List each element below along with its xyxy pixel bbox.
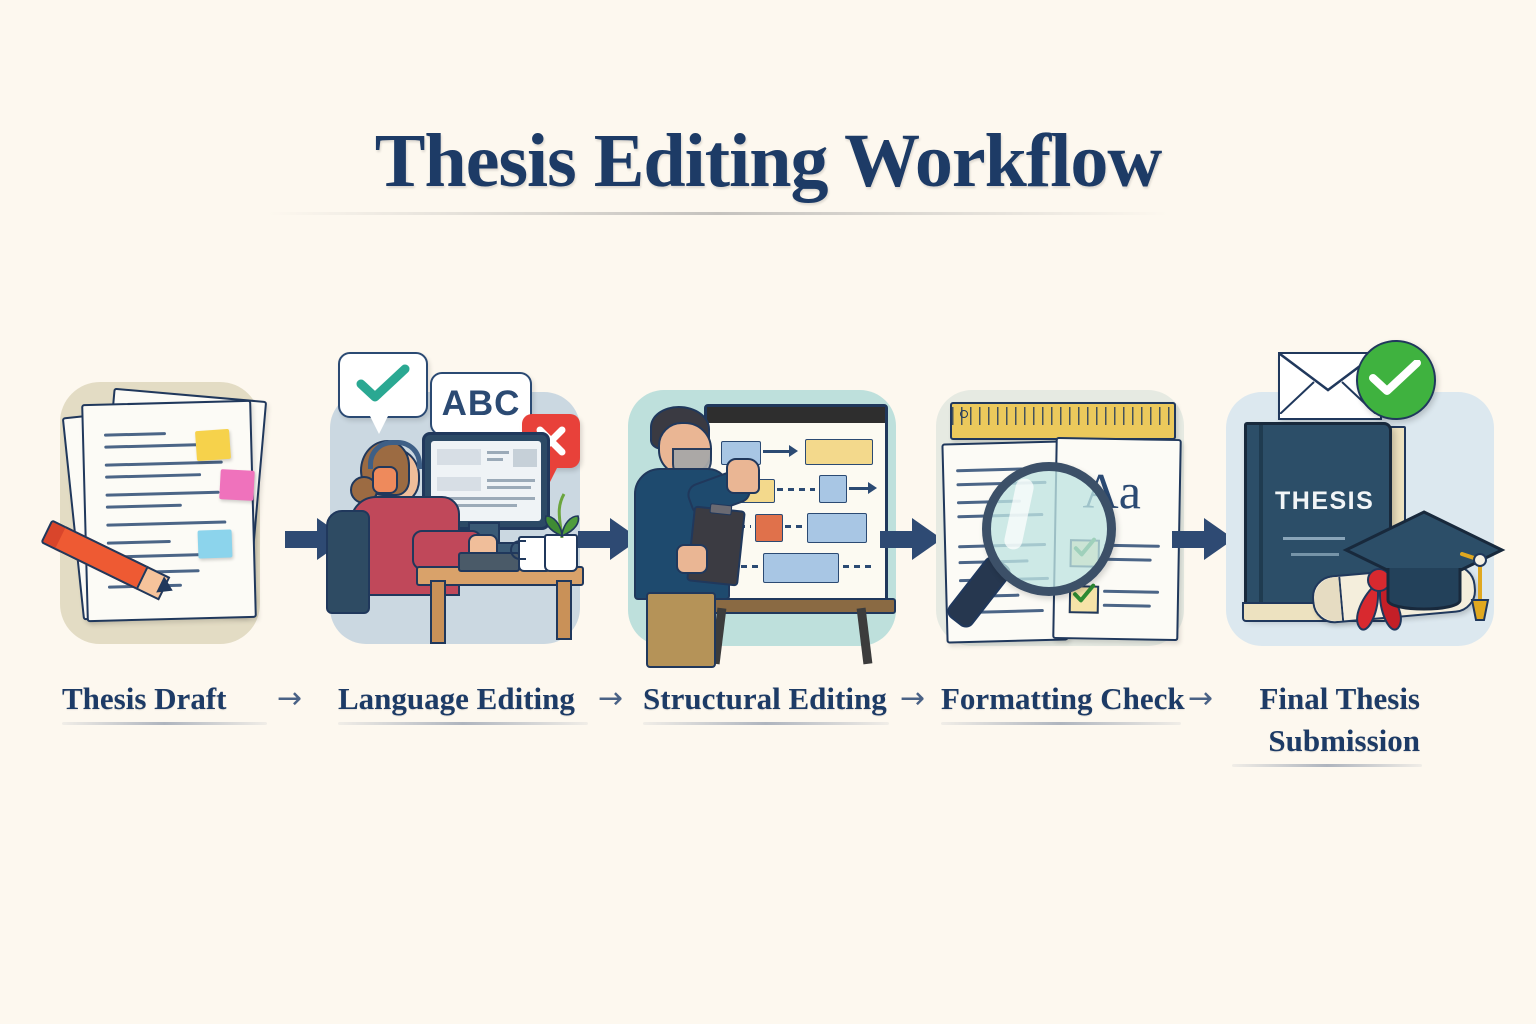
magnifier-icon [962,458,1114,624]
step-label-2[interactable]: Language Editing [338,678,592,725]
desk-leg [556,580,572,640]
structure-block [805,439,873,465]
step-label-2-underline [338,722,588,725]
check-icon [1369,360,1421,400]
plant-pot [544,534,578,572]
step-label-1[interactable]: Thesis Draft [62,678,272,725]
step-label-4-underline [941,722,1181,725]
paper-text-line [106,521,226,527]
structure-arrow-head [789,445,798,457]
office-chair [326,510,370,614]
step-label-5[interactable]: Final Thesis Submission [1232,678,1482,767]
book-spine [1259,425,1263,615]
step-label-row: Thesis Draft → Language Editing → Struct… [0,672,1536,792]
step-label-4[interactable]: Formatting Check [941,678,1185,725]
title-divider [268,212,1168,215]
step-label-5-text: Final Thesis Submission [1232,678,1420,762]
step-label-2-text: Language Editing [338,678,592,720]
step-label-1-text: Thesis Draft [62,678,272,720]
paper-text-line [105,461,223,467]
illustration-strip: ABC [0,330,1536,670]
structure-dashes [843,565,871,568]
desk-leg [430,580,446,644]
graduation-cap [1342,508,1506,624]
step-4-illustration: Aa [918,330,1200,670]
mug-handle [510,540,526,560]
editor-pointing-hand [726,458,760,494]
paper-text-line [106,504,182,509]
step-2-illustration: ABC [320,330,600,670]
step-label-3-text: Structural Editing [643,678,893,720]
sticky-note-pink [219,469,255,501]
proofread-abc-bubble: ABC [430,372,532,436]
check-icon [355,364,411,406]
label-arrow-1: → [277,678,302,720]
step-label-1-underline [62,722,267,725]
plant-leaves [542,492,582,538]
proofread-check-bubble [338,352,428,418]
abc-bubble-text: ABC [442,384,521,424]
headphone-earcup [372,466,398,494]
sticky-note-blue [198,529,233,558]
paper-text-line [105,473,201,479]
step-1-illustration [18,330,290,670]
structure-block-highlight [755,514,783,542]
structure-dashes [777,488,815,491]
page-title: Thesis Editing Workflow [0,118,1536,205]
structure-block [807,513,867,543]
label-arrow-3: → [900,678,925,720]
step-label-3[interactable]: Structural Editing [643,678,893,725]
step-3-illustration [616,330,908,670]
step-label-5-underline [1232,764,1422,767]
structure-block [819,475,847,503]
editor-lower-hand [676,544,708,574]
paper-text-line [106,491,220,497]
structure-dashes [785,525,803,528]
step-label-4-text: Formatting Check [941,678,1185,720]
page-title-text: Thesis Editing Workflow [375,118,1161,205]
label-arrow-4: → [1188,678,1213,720]
workflow-diagram: Thesis Editing Workflow [0,0,1536,1024]
editor-trousers [646,592,716,668]
structure-block [763,553,839,583]
magnifier-ring [982,462,1116,596]
sticky-note-yellow [195,429,231,461]
structure-arrow-head [868,482,877,494]
step-label-3-underline [643,722,889,725]
structure-arrow [763,450,791,453]
paper-text-line [104,432,166,437]
label-arrow-2: → [598,678,623,720]
ruler-icon [950,402,1176,440]
step-5-illustration: THESIS [1212,330,1520,670]
check-bubble-tail [368,412,390,434]
approval-badge [1356,340,1436,420]
paper-text-line [107,540,171,545]
whiteboard-header-bar [707,407,885,423]
